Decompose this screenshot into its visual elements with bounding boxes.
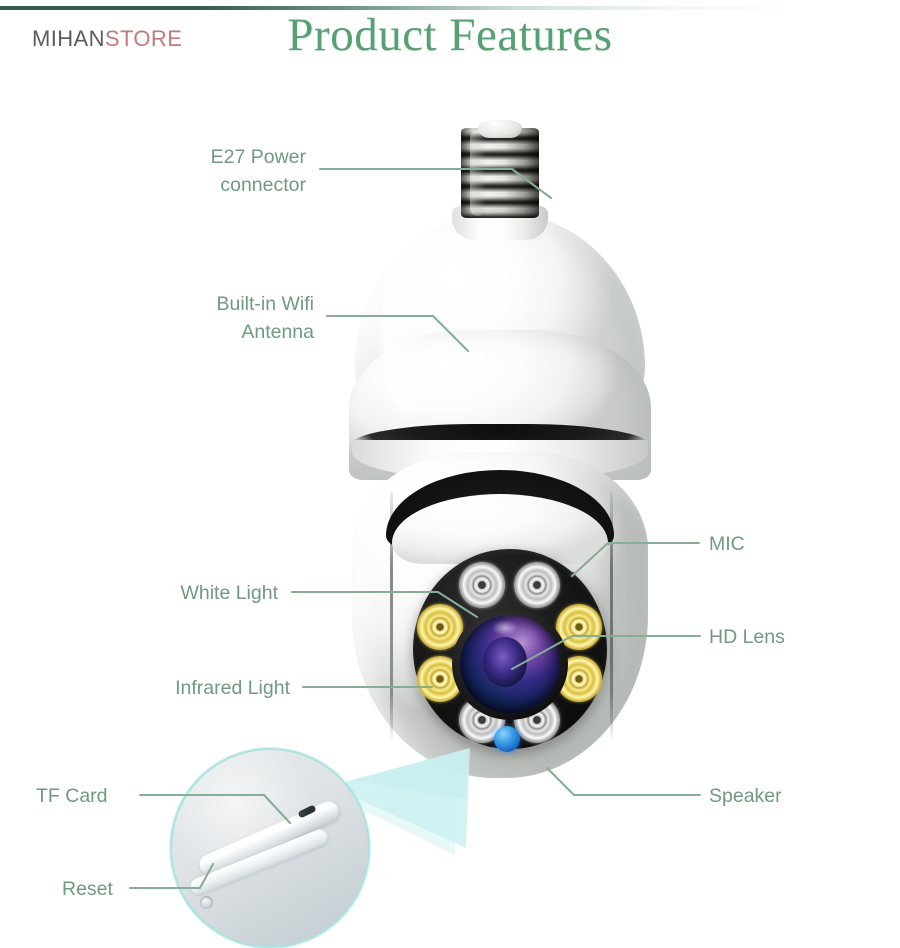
leader-tf-card <box>140 795 290 823</box>
leader-hd-lens <box>512 636 700 669</box>
label-hd-lens: HD Lens <box>709 625 785 651</box>
leader-white-light <box>292 592 477 617</box>
label-e27-power-connector-line2: connector <box>96 171 306 199</box>
label-reset: Reset <box>62 877 113 903</box>
leader-speaker <box>547 768 700 795</box>
leader-mic <box>572 543 699 576</box>
label-builtin-wifi-antenna: Built-in Wifi Antenna <box>96 290 314 347</box>
callout-leader-lines <box>0 0 900 900</box>
label-e27-power-connector: E27 Power connector <box>96 143 306 200</box>
label-builtin-wifi-antenna-line2: Antenna <box>96 318 314 346</box>
leader-e27-power-connector <box>320 169 551 198</box>
infographic-canvas: MIHANSTORE Product Features <box>0 0 900 900</box>
label-builtin-wifi-antenna-line1: Built-in Wifi <box>96 290 314 318</box>
leader-reset <box>130 864 213 888</box>
leader-builtin-wifi-antenna <box>327 316 468 351</box>
label-mic: MIC <box>709 532 745 558</box>
label-white-light: White Light <box>60 581 278 607</box>
label-e27-power-connector-line1: E27 Power <box>96 143 306 171</box>
label-speaker: Speaker <box>709 784 782 810</box>
label-tf-card: TF Card <box>36 784 108 810</box>
label-infrared-light: Infrared Light <box>60 676 290 702</box>
